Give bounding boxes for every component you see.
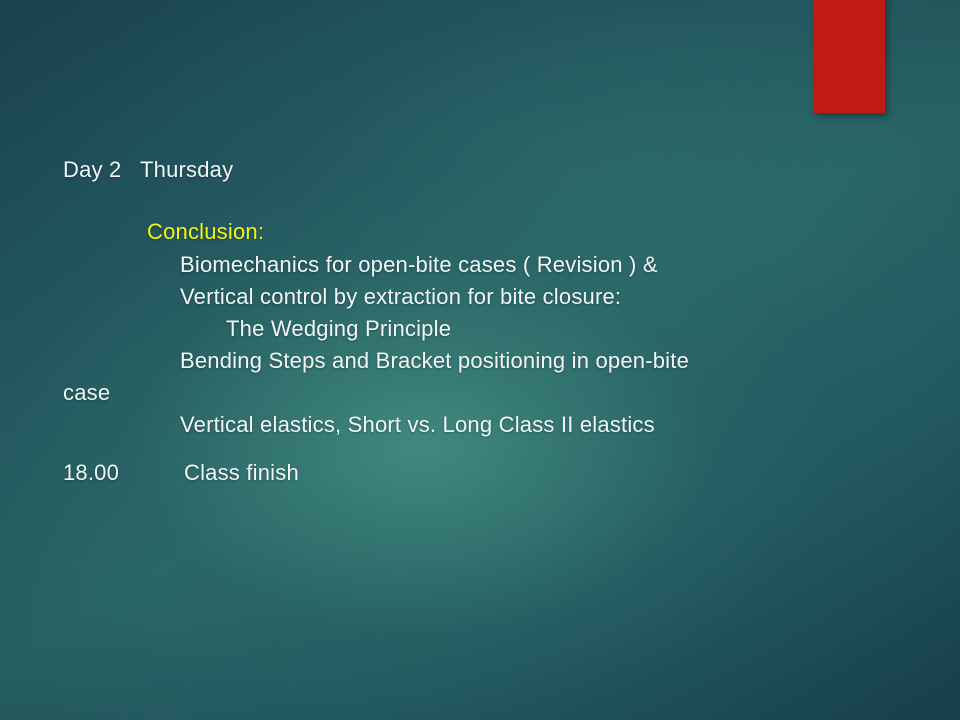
agenda-line-biomechanics: Biomechanics for open-bite cases ( Revis…	[180, 252, 658, 278]
slide-content: Day 2 Thursday Conclusion: Biomechanics …	[0, 0, 960, 720]
agenda-line-wedging-principle: The Wedging Principle	[226, 316, 451, 342]
agenda-line-vertical-elastics: Vertical elastics, Short vs. Long Class …	[180, 412, 655, 438]
agenda-line-bending-steps: Bending Steps and Bracket positioning in…	[180, 348, 689, 374]
schedule-time: 18.00	[63, 460, 119, 486]
presentation-slide: Day 2 Thursday Conclusion: Biomechanics …	[0, 0, 960, 720]
schedule-label: Class finish	[184, 460, 299, 486]
slide-heading-day: Day 2 Thursday	[63, 157, 233, 183]
agenda-line-case-wrap: case	[63, 380, 110, 406]
slide-heading-conclusion: Conclusion:	[147, 219, 264, 245]
agenda-line-vertical-control: Vertical control by extraction for bite …	[180, 284, 621, 310]
